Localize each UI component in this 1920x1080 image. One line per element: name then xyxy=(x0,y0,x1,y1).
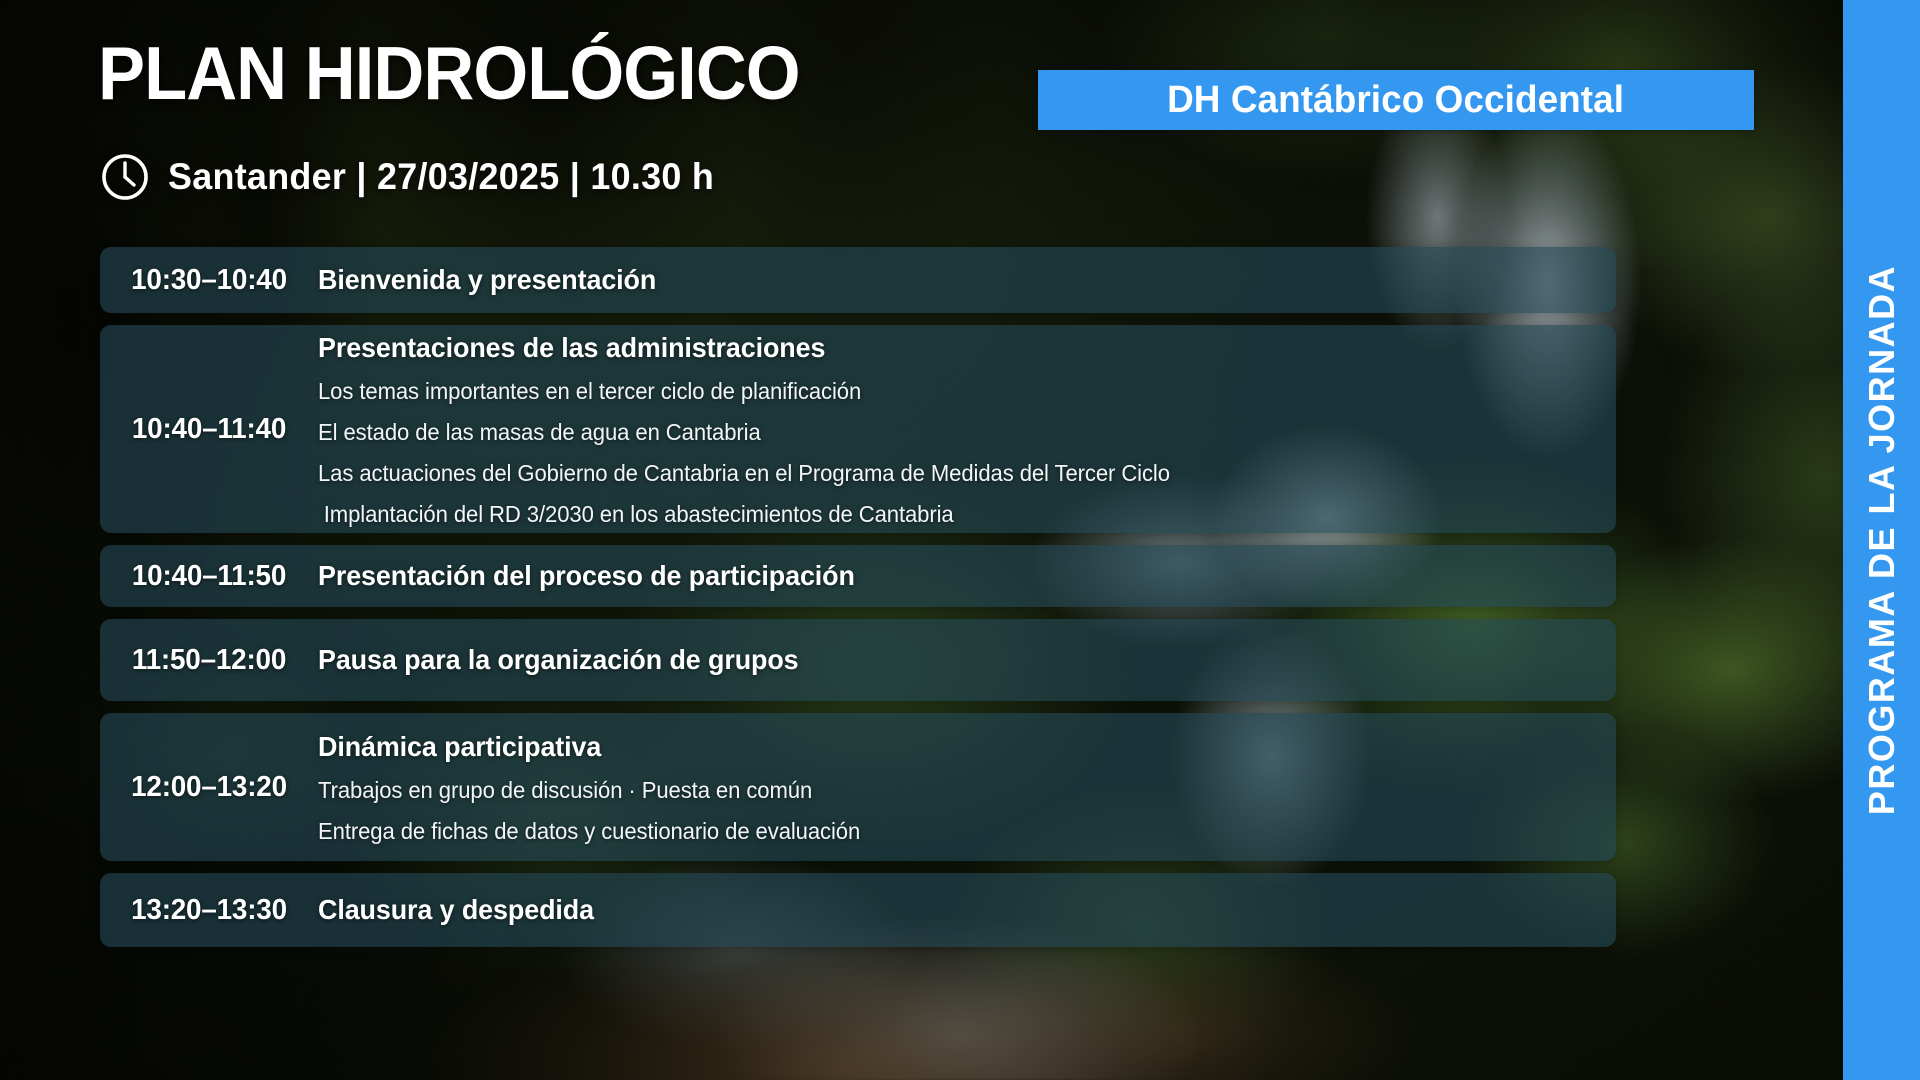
side-rail: PROGRAMA DE LA JORNADA xyxy=(1843,0,1920,1080)
basin-badge: DH Cantábrico Occidental xyxy=(1038,70,1754,130)
schedule-row-time: 10:30–10:40 xyxy=(104,264,313,297)
schedule-row: 10:40–11:40 Presentaciones de las admini… xyxy=(100,325,1616,533)
schedule-row: 13:20–13:30 Clausura y despedida xyxy=(100,873,1616,947)
schedule-row-heading: Presentación del proceso de participació… xyxy=(318,560,1541,592)
schedule-row-time: 12:00–13:20 xyxy=(104,771,313,804)
schedule-sub-item: Las actuaciones del Gobierno de Cantabri… xyxy=(318,462,1541,485)
poster-root: PLAN HIDROLÓGICO DH Cantábrico Occidenta… xyxy=(0,0,1920,1080)
schedule-row: 12:00–13:20 Dinámica participativa Traba… xyxy=(100,713,1616,861)
schedule-row-heading: Presentaciones de las administraciones xyxy=(318,332,1541,364)
side-rail-label: PROGRAMA DE LA JORNADA xyxy=(1861,265,1903,815)
schedule-row-time: 10:40–11:50 xyxy=(104,560,313,593)
schedule-row-heading: Dinámica participativa xyxy=(318,731,1541,763)
schedule-sub-item: Trabajos en grupo de discusión · Puesta … xyxy=(318,779,1541,802)
schedule-row: 10:40–11:50 Presentación del proceso de … xyxy=(100,545,1616,607)
schedule-row-body: Bienvenida y presentación xyxy=(318,264,1616,296)
schedule-row-body: Pausa para la organización de grupos xyxy=(318,644,1616,676)
event-meta-text: Santander | 27/03/2025 | 10.30 h xyxy=(168,156,714,198)
clock-icon xyxy=(100,152,150,202)
page-title: PLAN HIDROLÓGICO xyxy=(98,36,800,111)
schedule-row-body: Clausura y despedida xyxy=(318,894,1616,926)
schedule-list: 10:30–10:40 Bienvenida y presentación 10… xyxy=(100,247,1616,959)
schedule-sub-item: El estado de las masas de agua en Cantab… xyxy=(318,421,1541,444)
schedule-row-heading: Pausa para la organización de grupos xyxy=(318,644,1541,676)
schedule-sub-item: Implantación del RD 3/2030 en los abaste… xyxy=(318,503,1541,526)
schedule-row: 11:50–12:00 Pausa para la organización d… xyxy=(100,619,1616,701)
schedule-row-time: 11:50–12:00 xyxy=(104,644,313,677)
event-meta: Santander | 27/03/2025 | 10.30 h xyxy=(100,152,731,202)
schedule-row-body: Dinámica participativa Trabajos en grupo… xyxy=(318,731,1616,843)
schedule-row-body: Presentaciones de las administraciones L… xyxy=(318,332,1616,526)
schedule-row-heading: Clausura y despedida xyxy=(318,894,1541,926)
schedule-row-time: 13:20–13:30 xyxy=(104,894,313,927)
schedule-row: 10:30–10:40 Bienvenida y presentación xyxy=(100,247,1616,313)
schedule-row-heading: Bienvenida y presentación xyxy=(318,264,1541,296)
schedule-row-time: 10:40–11:40 xyxy=(104,413,313,446)
basin-badge-label: DH Cantábrico Occidental xyxy=(1167,79,1624,122)
schedule-sub-item: Los temas importantes en el tercer ciclo… xyxy=(318,380,1541,403)
schedule-sub-item: Entrega de fichas de datos y cuestionari… xyxy=(318,820,1541,843)
schedule-row-body: Presentación del proceso de participació… xyxy=(318,560,1616,592)
